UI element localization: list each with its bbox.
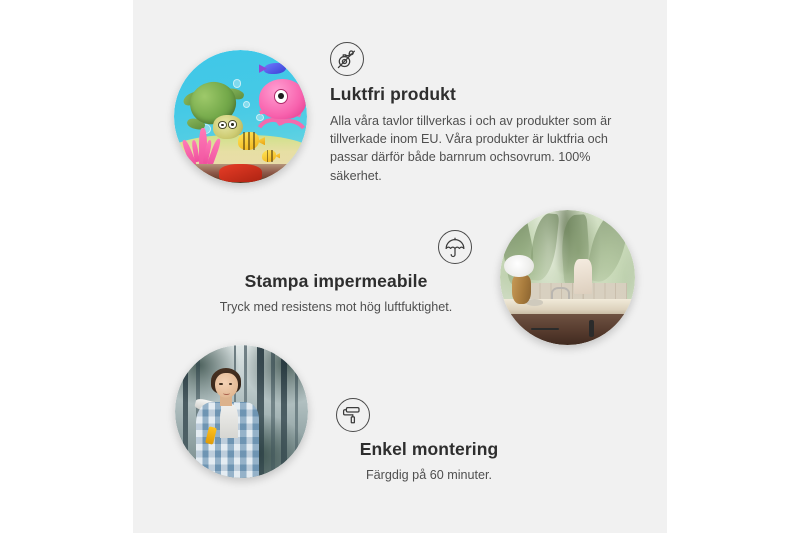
feature-odourless: Luktfri produkt Alla våra tavlor tillver… xyxy=(330,42,630,185)
red-crab-icon xyxy=(219,164,262,181)
bathroom-interior-photo xyxy=(500,210,635,345)
feature-title: Enkel montering xyxy=(318,439,540,461)
vase xyxy=(512,275,531,305)
feature-easy-mounting: Enkel montering Färgdig på 60 minuter. xyxy=(318,398,540,484)
feature-title: Stampa impermeabile xyxy=(200,271,472,293)
mirror xyxy=(574,259,592,294)
no-perfume-icon xyxy=(330,42,364,76)
coral-icon xyxy=(182,124,230,169)
underwater-cartoon-photo xyxy=(174,50,307,183)
paint-roller-icon xyxy=(336,398,370,432)
feature-title: Luktfri produkt xyxy=(330,84,630,106)
tree-trunk xyxy=(183,345,188,478)
face xyxy=(215,373,238,398)
yellow-fish-icon xyxy=(238,132,259,149)
feature-description: Tryck med resistens mot hög luftfuktighe… xyxy=(200,298,472,316)
white-tee xyxy=(220,404,237,439)
feature-description: Färgdig på 60 minuter. xyxy=(318,466,540,484)
tree-trunk xyxy=(295,345,298,478)
umbrella-icon xyxy=(438,230,472,264)
tree-trunk xyxy=(271,345,275,478)
white-flower-icon xyxy=(504,255,534,278)
tree-trunk xyxy=(281,345,287,478)
feature-description: Alla våra tavlor tillverkas i och av pro… xyxy=(330,112,630,185)
page-canvas: Luktfri produkt Alla våra tavlor tillver… xyxy=(0,0,800,533)
vanity-cabinet xyxy=(508,314,635,345)
painter-forest-photo xyxy=(175,345,308,478)
feature-waterproof: Stampa impermeabile Tryck med resistens … xyxy=(200,230,472,316)
